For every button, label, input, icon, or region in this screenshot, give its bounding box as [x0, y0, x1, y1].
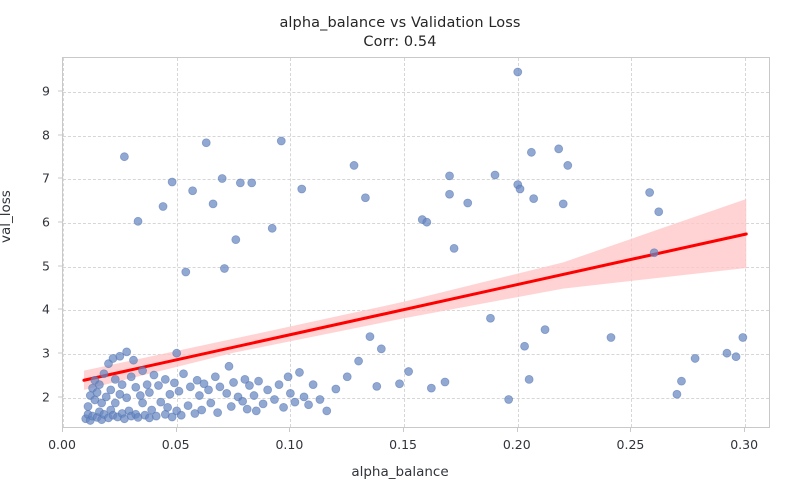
plot-area: [62, 57, 770, 428]
scatter-point: [84, 402, 92, 410]
scatter-point: [123, 348, 131, 356]
scatter-point: [268, 224, 276, 232]
scatter-point: [245, 382, 253, 390]
scatter-point: [111, 375, 119, 383]
scatter-point: [264, 386, 272, 394]
x-tick-mark: [744, 428, 745, 432]
scatter-point: [446, 190, 454, 198]
scatter-point: [230, 378, 238, 386]
scatter-point: [350, 161, 358, 169]
x-tick-mark: [176, 428, 177, 432]
y-tick-label: 3: [10, 346, 50, 361]
scatter-point: [102, 393, 110, 401]
scatter-point: [300, 393, 308, 401]
scatter-point: [120, 153, 128, 161]
scatter-point: [186, 383, 194, 391]
scatter-point: [255, 377, 263, 385]
scatter-point: [139, 367, 147, 375]
scatter-point: [298, 185, 306, 193]
scatter-point: [123, 394, 131, 402]
y-tick-label: 5: [10, 258, 50, 273]
y-tick-mark: [58, 134, 62, 135]
scatter-point: [309, 381, 317, 389]
scatter-point: [514, 68, 522, 76]
scatter-point: [732, 353, 740, 361]
scatter-point: [396, 380, 404, 388]
scatter-point: [202, 139, 210, 147]
scatter-point: [236, 179, 244, 187]
scatter-point: [239, 397, 247, 405]
scatter-point: [225, 362, 233, 370]
x-tick-label: 0.05: [141, 437, 211, 452]
scatter-point: [136, 392, 144, 400]
scatter-plot-figure: alpha_balance vs Validation Loss Corr: 0…: [0, 0, 800, 500]
scatter-point: [343, 373, 351, 381]
y-tick-mark: [58, 309, 62, 310]
scatter-point: [486, 314, 494, 322]
scatter-point: [280, 403, 288, 411]
scatter-point: [361, 194, 369, 202]
x-tick-mark: [630, 428, 631, 432]
x-tick-label: 0.30: [709, 437, 779, 452]
y-tick-mark: [58, 353, 62, 354]
scatter-point: [207, 399, 215, 407]
scatter-point: [446, 172, 454, 180]
scatter-point: [450, 244, 458, 252]
scatter-point: [291, 398, 299, 406]
scatter-point: [277, 137, 285, 145]
scatter-point: [177, 411, 185, 419]
scatter-point: [366, 333, 374, 341]
y-tick-mark: [58, 396, 62, 397]
scatter-point: [166, 390, 174, 398]
scatter-point: [205, 386, 213, 394]
scatter-point: [173, 349, 181, 357]
confidence-band: [84, 199, 746, 390]
x-tick-mark: [289, 428, 290, 432]
scatter-point: [441, 378, 449, 386]
scatter-point: [143, 381, 151, 389]
x-tick-label: 0.00: [27, 437, 97, 452]
scatter-point: [555, 145, 563, 153]
x-tick-label: 0.15: [368, 437, 438, 452]
y-tick-label: 7: [10, 171, 50, 186]
scatter-point: [655, 208, 663, 216]
scatter-point: [516, 185, 524, 193]
scatter-point: [250, 392, 258, 400]
scatter-point: [355, 357, 363, 365]
scatter-point: [220, 264, 228, 272]
x-tick-label: 0.10: [254, 437, 324, 452]
chart-subtitle-correlation: Corr: 0.54: [0, 33, 800, 52]
scatter-point: [218, 175, 226, 183]
scatter-point: [377, 345, 385, 353]
scatter-point: [152, 412, 160, 420]
scatter-point: [739, 333, 747, 341]
scatter-point: [145, 389, 153, 397]
scatter-point: [211, 373, 219, 381]
x-tick-label: 0.20: [482, 437, 552, 452]
scatter-point: [184, 402, 192, 410]
y-tick-label: 2: [10, 389, 50, 404]
scatter-point: [527, 148, 535, 156]
scatter-point: [139, 399, 147, 407]
scatter-point: [100, 370, 108, 378]
scatter-point: [541, 326, 549, 334]
data-layer: [63, 58, 769, 427]
page-title: alpha_balance vs Validation Loss: [0, 14, 800, 33]
scatter-point: [295, 368, 303, 376]
scatter-point: [248, 179, 256, 187]
scatter-point: [427, 384, 435, 392]
scatter-point: [316, 395, 324, 403]
scatter-point: [111, 399, 119, 407]
scatter-point: [95, 381, 103, 389]
scatter-point: [646, 188, 654, 196]
scatter-point: [677, 377, 685, 385]
scatter-point: [223, 389, 231, 397]
scatter-point: [521, 342, 529, 350]
scatter-point: [286, 389, 294, 397]
scatter-point: [505, 395, 513, 403]
scatter-point: [491, 171, 499, 179]
scatter-point: [180, 370, 188, 378]
scatter-point: [284, 373, 292, 381]
y-tick-label: 6: [10, 215, 50, 230]
x-tick-mark: [62, 428, 63, 432]
x-tick-mark: [403, 428, 404, 432]
scatter-point: [423, 218, 431, 226]
y-tick-label: 8: [10, 127, 50, 142]
scatter-point: [305, 401, 313, 409]
scatter-point: [252, 407, 260, 415]
scatter-point: [93, 389, 101, 397]
y-tick-label: 4: [10, 302, 50, 317]
scatter-point: [127, 373, 135, 381]
regression-line: [84, 234, 746, 380]
scatter-point: [405, 368, 413, 376]
scatter-point: [650, 249, 658, 257]
scatter-point: [164, 403, 172, 411]
scatter-point: [323, 407, 331, 415]
y-tick-mark: [58, 178, 62, 179]
scatter-point: [118, 381, 126, 389]
scatter-point: [198, 406, 206, 414]
scatter-point: [189, 187, 197, 195]
scatter-point: [530, 195, 538, 203]
scatter-point: [259, 400, 267, 408]
scatter-point: [182, 268, 190, 276]
scatter-point: [691, 354, 699, 362]
x-tick-mark: [517, 428, 518, 432]
scatter-point: [723, 349, 731, 357]
scatter-point: [159, 202, 167, 210]
scatter-point: [673, 390, 681, 398]
scatter-point: [195, 392, 203, 400]
scatter-point: [170, 379, 178, 387]
scatter-point: [216, 383, 224, 391]
title-block: alpha_balance vs Validation Loss Corr: 0…: [0, 14, 800, 52]
scatter-point: [373, 382, 381, 390]
scatter-point: [154, 382, 162, 390]
y-tick-label: 9: [10, 84, 50, 99]
x-axis-label: alpha_balance: [0, 464, 800, 480]
scatter-point: [150, 371, 158, 379]
scatter-point: [464, 199, 472, 207]
y-tick-mark: [58, 265, 62, 266]
scatter-point: [275, 381, 283, 389]
y-tick-mark: [58, 91, 62, 92]
scatter-point: [107, 386, 115, 394]
scatter-point: [209, 200, 217, 208]
scatter-point: [129, 356, 137, 364]
scatter-point: [168, 178, 176, 186]
scatter-point: [227, 402, 235, 410]
scatter-point: [332, 385, 340, 393]
x-tick-label: 0.25: [595, 437, 665, 452]
scatter-point: [525, 375, 533, 383]
scatter-point: [232, 236, 240, 244]
scatter-point: [564, 161, 572, 169]
y-tick-mark: [58, 222, 62, 223]
scatter-point: [214, 409, 222, 417]
scatter-point: [175, 387, 183, 395]
scatter-point: [134, 217, 142, 225]
scatter-point: [132, 383, 140, 391]
scatter-point: [559, 200, 567, 208]
scatter-point: [157, 398, 165, 406]
scatter-point: [607, 333, 615, 341]
scatter-point: [161, 375, 169, 383]
scatter-point: [243, 405, 251, 413]
scatter-point: [270, 395, 278, 403]
